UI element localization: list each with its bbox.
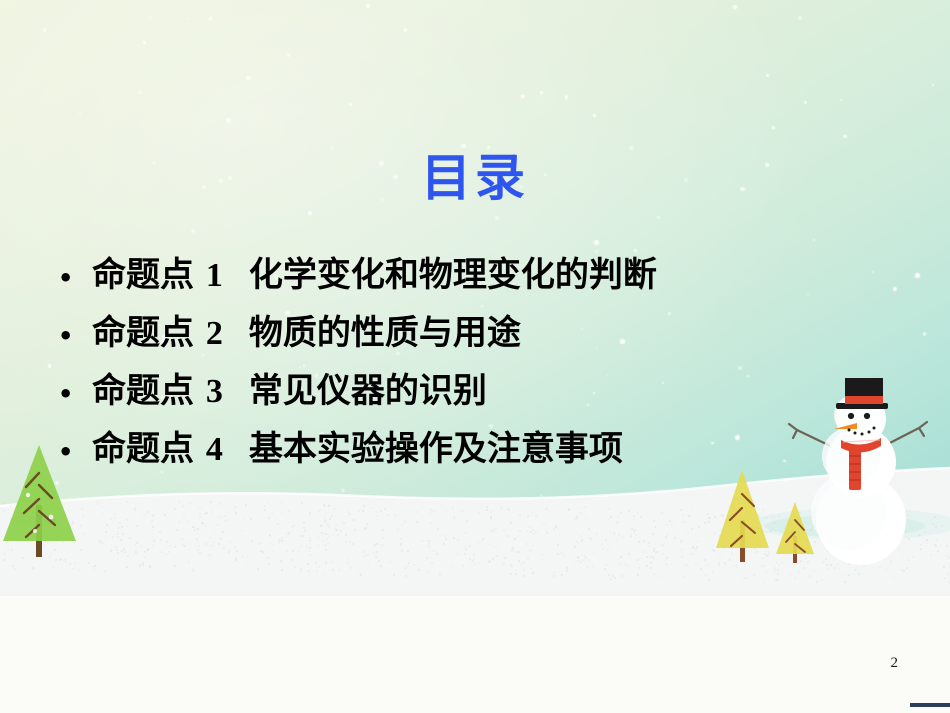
snow-speck bbox=[315, 562, 317, 564]
bullet-icon: • bbox=[58, 367, 92, 422]
snow-speck bbox=[281, 540, 283, 542]
snow-speck bbox=[159, 531, 161, 533]
snow-speck bbox=[257, 568, 259, 570]
snow-speck bbox=[649, 578, 651, 580]
snow-speck bbox=[236, 550, 238, 552]
snow-speck bbox=[466, 520, 468, 522]
snow-speck bbox=[774, 570, 776, 572]
snowflake bbox=[733, 5, 737, 9]
snow-speck bbox=[827, 568, 829, 570]
snow-speck bbox=[687, 567, 689, 569]
snow-speck bbox=[149, 565, 151, 567]
toc-item-number: 2 bbox=[206, 315, 223, 352]
snow-speck bbox=[482, 538, 484, 540]
snow-speck bbox=[196, 538, 198, 540]
snow-speck bbox=[616, 539, 618, 541]
snow-speck bbox=[527, 557, 529, 559]
snow-speck bbox=[794, 577, 796, 579]
snow-speck bbox=[514, 569, 516, 571]
snow-speck bbox=[80, 549, 82, 551]
toc-item-label: 命题点 4基本实验操作及注意事项 bbox=[92, 422, 623, 477]
snow-speck bbox=[335, 529, 337, 531]
snow-speck bbox=[139, 566, 141, 568]
snow-speck bbox=[140, 545, 142, 547]
snow-speck bbox=[426, 557, 428, 559]
snow-speck bbox=[696, 546, 698, 548]
snowflake bbox=[191, 229, 195, 233]
toc-item-prefix: 命题点 bbox=[92, 429, 194, 469]
snow-speck bbox=[288, 510, 290, 512]
snow-speck bbox=[187, 520, 189, 522]
snow-speck bbox=[504, 557, 506, 559]
snowflake bbox=[843, 135, 847, 139]
snow-speck bbox=[609, 531, 611, 533]
snow-speck bbox=[650, 562, 652, 564]
snow-speck bbox=[117, 533, 119, 535]
snow-speck bbox=[340, 530, 342, 532]
snow-speck bbox=[608, 574, 610, 576]
snow-speck bbox=[325, 549, 327, 551]
snow-speck bbox=[532, 545, 534, 547]
snow-speck bbox=[574, 546, 576, 548]
snow-speck bbox=[320, 525, 322, 527]
snow-speck bbox=[707, 564, 709, 566]
snow-speck bbox=[304, 530, 306, 532]
snowflake bbox=[594, 240, 599, 245]
snow-speck bbox=[329, 518, 331, 520]
snow-speck bbox=[464, 553, 466, 555]
snow-speck bbox=[280, 560, 282, 562]
snow-speck bbox=[775, 579, 777, 581]
snow-speck bbox=[418, 533, 420, 535]
snow-speck bbox=[465, 548, 467, 550]
snow-speck bbox=[122, 533, 124, 535]
snow-speck bbox=[413, 564, 415, 566]
snow-speck bbox=[944, 577, 946, 579]
snow-speck bbox=[368, 567, 370, 569]
snow-speck bbox=[367, 554, 369, 556]
snow-speck bbox=[705, 574, 707, 576]
snow-speck bbox=[610, 516, 612, 518]
toc-item-4[interactable]: •命题点 4基本实验操作及注意事项 bbox=[58, 422, 928, 480]
snow-speck bbox=[278, 539, 280, 541]
snow-speck bbox=[176, 529, 178, 531]
snow-speck bbox=[347, 557, 349, 559]
snow-speck bbox=[561, 574, 563, 576]
snow-speck bbox=[478, 512, 480, 514]
snowflake bbox=[143, 41, 146, 44]
snow-speck bbox=[527, 515, 529, 517]
snow-speck bbox=[663, 559, 665, 561]
snow-speck bbox=[380, 565, 382, 567]
snow-speck bbox=[732, 565, 734, 567]
snow-speck bbox=[635, 534, 637, 536]
snow-speck bbox=[12, 565, 14, 567]
snow-speck bbox=[405, 575, 407, 577]
yellow-pine-tree-large-shape bbox=[714, 468, 772, 564]
snow-speck bbox=[444, 535, 446, 537]
snowflake bbox=[461, 144, 465, 148]
snow-speck bbox=[127, 555, 129, 557]
snow-speck bbox=[471, 561, 473, 563]
snow-speck bbox=[363, 505, 365, 507]
snow-speck bbox=[153, 540, 155, 542]
snow-speck bbox=[245, 504, 247, 506]
snow-speck bbox=[607, 549, 609, 551]
snow-speck bbox=[646, 556, 648, 558]
snow-speck bbox=[602, 548, 604, 550]
snow-speck bbox=[286, 550, 288, 552]
snow-speck bbox=[580, 561, 582, 563]
snow-speck bbox=[620, 556, 622, 558]
snow-speck bbox=[633, 515, 635, 517]
snow-speck bbox=[695, 534, 697, 536]
page-number: 2 bbox=[891, 655, 899, 672]
snow-speck bbox=[134, 544, 136, 546]
snowflake bbox=[43, 28, 46, 31]
table-of-contents: •命题点 1化学变化和物理变化的判断•命题点 2物质的性质与用途•命题点 3常见… bbox=[58, 248, 928, 480]
snow-speck bbox=[124, 551, 126, 553]
snow-speck bbox=[269, 534, 271, 536]
snow-speck bbox=[745, 577, 747, 579]
snow-speck bbox=[903, 570, 905, 572]
snowflake bbox=[366, 4, 370, 8]
snow-speck bbox=[743, 577, 745, 579]
snow-speck bbox=[126, 566, 128, 568]
toc-item-number: 4 bbox=[206, 431, 223, 468]
snowflake bbox=[138, 91, 141, 94]
snow-speck bbox=[119, 503, 121, 505]
snowflake bbox=[381, 95, 383, 97]
snow-speck bbox=[518, 551, 520, 553]
snow-speck bbox=[633, 519, 635, 521]
snow-speck bbox=[637, 574, 639, 576]
snowflake bbox=[521, 95, 524, 98]
snow-speck bbox=[500, 508, 502, 510]
snow-speck bbox=[193, 526, 195, 528]
snow-speck bbox=[492, 558, 494, 560]
snow-speck bbox=[104, 570, 106, 572]
toc-item-label: 命题点 1化学变化和物理变化的判断 bbox=[92, 248, 657, 303]
snow-speck bbox=[189, 502, 191, 504]
snow-speck bbox=[443, 543, 445, 545]
snow-speck bbox=[665, 563, 667, 565]
snow-speck bbox=[518, 560, 520, 562]
snow-speck bbox=[584, 555, 586, 557]
snow-speck bbox=[588, 528, 590, 530]
snow-speck bbox=[143, 514, 145, 516]
snowflake bbox=[593, 114, 596, 117]
snow-speck bbox=[620, 508, 622, 510]
snow-speck bbox=[633, 531, 635, 533]
snow-speck bbox=[98, 501, 100, 503]
snow-speck bbox=[669, 520, 671, 522]
snow-speck bbox=[197, 549, 199, 551]
corner-accent-bar bbox=[910, 703, 950, 707]
snow-speck bbox=[213, 541, 215, 543]
snow-speck bbox=[588, 559, 590, 561]
snow-speck bbox=[566, 567, 568, 569]
snow-speck bbox=[94, 565, 96, 567]
snow-speck bbox=[222, 531, 224, 533]
snow-speck bbox=[136, 525, 138, 527]
snow-speck bbox=[640, 557, 642, 559]
snow-speck bbox=[566, 570, 568, 572]
snow-speck bbox=[152, 545, 154, 547]
presentation-page: 目录 •命题点 1化学变化和物理变化的判断•命题点 2物质的性质与用途•命题点 … bbox=[0, 0, 950, 713]
snow-speck bbox=[212, 545, 214, 547]
snow-speck bbox=[360, 574, 362, 576]
snow-speck bbox=[671, 524, 673, 526]
snow-speck bbox=[643, 540, 645, 542]
snow-speck bbox=[80, 525, 82, 527]
snow-speck bbox=[204, 513, 206, 515]
snow-speck bbox=[322, 532, 324, 534]
snow-speck bbox=[637, 559, 639, 561]
snowflake bbox=[612, 12, 614, 14]
snow-speck bbox=[394, 514, 396, 516]
snowflake bbox=[540, 95, 542, 97]
snow-speck bbox=[307, 563, 309, 565]
snow-speck bbox=[380, 544, 382, 546]
snow-speck bbox=[697, 540, 699, 542]
snow-speck bbox=[349, 541, 351, 543]
snow-speck bbox=[188, 548, 190, 550]
snow-speck bbox=[407, 550, 409, 552]
snow-speck bbox=[197, 528, 199, 530]
toc-item-label: 命题点 2物质的性质与用途 bbox=[92, 306, 521, 361]
snow-speck bbox=[704, 522, 706, 524]
snow-speck bbox=[127, 526, 129, 528]
toc-item-topic: 物质的性质与用途 bbox=[249, 313, 521, 353]
snow-speck bbox=[380, 510, 382, 512]
page-title: 目录 bbox=[0, 152, 950, 205]
snow-speck bbox=[533, 533, 535, 535]
snow-speck bbox=[328, 526, 330, 528]
snowflake bbox=[226, 118, 231, 123]
snow-speck bbox=[129, 537, 131, 539]
snow-speck bbox=[682, 514, 684, 516]
snowflake bbox=[629, 146, 633, 150]
snow-speck bbox=[777, 572, 779, 574]
snow-speck bbox=[469, 558, 471, 560]
snow-speck bbox=[408, 562, 410, 564]
snow-speck bbox=[484, 519, 486, 521]
snow-speck bbox=[400, 543, 402, 545]
snow-speck bbox=[622, 536, 624, 538]
snow-speck bbox=[653, 548, 655, 550]
snow-speck bbox=[278, 541, 280, 543]
snow-speck bbox=[947, 573, 949, 575]
snow-speck bbox=[680, 539, 682, 541]
snow-speck bbox=[445, 509, 447, 511]
snowflake bbox=[246, 76, 250, 80]
snowflake bbox=[772, 126, 775, 129]
bullet-icon: • bbox=[58, 251, 92, 306]
snow-speck bbox=[474, 563, 476, 565]
snow-speck bbox=[375, 511, 377, 513]
snow-speck bbox=[665, 536, 667, 538]
snow-speck bbox=[585, 517, 587, 519]
snow-speck bbox=[844, 574, 846, 576]
snow-speck bbox=[209, 554, 211, 556]
snow-speck bbox=[673, 554, 675, 556]
snow-speck bbox=[520, 563, 522, 565]
snow-speck bbox=[886, 568, 888, 570]
snow-speck bbox=[613, 532, 615, 534]
snow-speck bbox=[101, 542, 103, 544]
snowflake bbox=[932, 84, 934, 86]
snow-speck bbox=[281, 512, 283, 514]
snow-speck bbox=[118, 527, 120, 529]
snow-speck bbox=[52, 566, 54, 568]
snow-speck bbox=[210, 501, 212, 503]
snow-speck bbox=[325, 512, 327, 514]
toc-item-topic: 基本实验操作及注意事项 bbox=[249, 429, 623, 469]
snow-speck bbox=[535, 515, 537, 517]
snowflake bbox=[840, 99, 842, 101]
snowflake bbox=[657, 216, 660, 219]
snow-speck bbox=[530, 567, 532, 569]
snow-speck bbox=[692, 547, 694, 549]
snowflake bbox=[48, 364, 52, 368]
snowflake bbox=[798, 16, 802, 20]
snow-speck bbox=[559, 534, 561, 536]
toc-item-label: 命题点 3常见仪器的识别 bbox=[92, 364, 487, 419]
snow-speck bbox=[178, 521, 180, 523]
snow-speck bbox=[610, 578, 612, 580]
toc-item-topic: 常见仪器的识别 bbox=[249, 371, 487, 411]
snowflake bbox=[540, 91, 543, 94]
snow-speck bbox=[376, 515, 378, 517]
snow-speck bbox=[110, 550, 112, 552]
snow-speck bbox=[281, 569, 283, 571]
snow-speck bbox=[575, 532, 577, 534]
snow-speck bbox=[553, 528, 555, 530]
snow-speck bbox=[635, 529, 637, 531]
slide-canvas: 目录 •命题点 1化学变化和物理变化的判断•命题点 2物质的性质与用途•命题点 … bbox=[0, 0, 950, 596]
snow-speck bbox=[674, 537, 676, 539]
snowflake bbox=[187, 18, 189, 20]
snow-speck bbox=[117, 552, 119, 554]
snow-speck bbox=[317, 536, 319, 538]
toc-item-topic: 化学变化和物理变化的判断 bbox=[249, 255, 657, 295]
snow-speck bbox=[354, 529, 356, 531]
snow-speck bbox=[367, 561, 369, 563]
snow-speck bbox=[515, 573, 517, 575]
snow-speck bbox=[439, 573, 441, 575]
snow-speck bbox=[301, 502, 303, 504]
snow-speck bbox=[217, 524, 219, 526]
snow-speck bbox=[268, 517, 270, 519]
snow-speck bbox=[510, 522, 512, 524]
snow-speck bbox=[557, 544, 559, 546]
snow-speck bbox=[681, 556, 683, 558]
snow-speck bbox=[735, 565, 737, 567]
snow-speck bbox=[384, 508, 386, 510]
snowflake bbox=[209, 17, 212, 20]
snow-speck bbox=[503, 529, 505, 531]
toc-item-prefix: 命题点 bbox=[92, 255, 194, 295]
snowflake bbox=[331, 147, 333, 149]
bullet-icon: • bbox=[58, 309, 92, 364]
snow-speck bbox=[798, 572, 800, 574]
toc-item-3[interactable]: •命题点 3常见仪器的识别 bbox=[58, 364, 928, 422]
snow-speck bbox=[345, 534, 347, 536]
snow-speck bbox=[535, 531, 537, 533]
snow-speck bbox=[101, 506, 103, 508]
snow-speck bbox=[250, 518, 252, 520]
snow-speck bbox=[430, 512, 432, 514]
snow-speck bbox=[242, 556, 244, 558]
snow-speck bbox=[279, 527, 281, 529]
snow-speck bbox=[106, 524, 108, 526]
snow-speck bbox=[650, 567, 652, 569]
snow-speck bbox=[219, 502, 221, 504]
snowflake bbox=[813, 239, 815, 241]
snow-speck bbox=[300, 545, 302, 547]
snow-speck bbox=[366, 523, 368, 525]
snow-speck bbox=[135, 552, 137, 554]
snow-speck bbox=[325, 521, 327, 523]
snow-speck bbox=[809, 575, 811, 577]
snow-speck bbox=[147, 549, 149, 551]
snow-speck bbox=[462, 565, 464, 567]
snow-speck bbox=[181, 538, 183, 540]
snow-speck bbox=[621, 575, 623, 577]
snow-speck bbox=[680, 541, 682, 543]
snow-speck bbox=[114, 513, 116, 515]
snow-speck bbox=[192, 570, 194, 572]
snow-speck bbox=[337, 534, 339, 536]
snow-speck bbox=[99, 542, 101, 544]
snow-speck bbox=[554, 571, 556, 573]
toc-item-2[interactable]: •命题点 2物质的性质与用途 bbox=[58, 306, 928, 364]
snow-speck bbox=[929, 567, 931, 569]
snowflake bbox=[755, 49, 757, 51]
snow-speck bbox=[241, 530, 243, 532]
snow-speck bbox=[264, 509, 266, 511]
snow-speck bbox=[589, 537, 591, 539]
snow-speck bbox=[142, 562, 144, 564]
snow-speck bbox=[322, 540, 324, 542]
snow-speck bbox=[620, 512, 622, 514]
snow-speck bbox=[291, 526, 293, 528]
snow-speck bbox=[648, 542, 650, 544]
snow-speck bbox=[490, 511, 492, 513]
snow-speck bbox=[687, 532, 689, 534]
snow-speck bbox=[763, 581, 765, 583]
snow-speck bbox=[231, 562, 233, 564]
snowflake bbox=[766, 74, 769, 77]
snowflake bbox=[287, 54, 290, 57]
snow-speck bbox=[318, 544, 320, 546]
toc-item-prefix: 命题点 bbox=[92, 313, 194, 353]
snowflake bbox=[349, 103, 352, 106]
snow-speck bbox=[147, 511, 149, 513]
snow-speck bbox=[324, 544, 326, 546]
toc-item-prefix: 命题点 bbox=[92, 371, 194, 411]
snow-speck bbox=[577, 560, 579, 562]
snow-speck bbox=[490, 516, 492, 518]
snow-speck bbox=[245, 564, 247, 566]
snow-speck bbox=[457, 553, 459, 555]
toc-item-1[interactable]: •命题点 1化学变化和物理变化的判断 bbox=[58, 248, 928, 306]
snow-speck bbox=[527, 530, 529, 532]
snow-speck bbox=[279, 503, 281, 505]
snow-speck bbox=[292, 550, 294, 552]
bullet-icon: • bbox=[58, 425, 92, 480]
